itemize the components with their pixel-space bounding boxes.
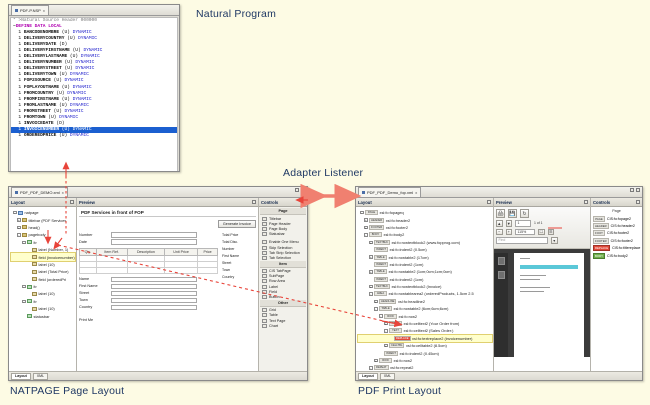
tree-node-label: itr: [34, 240, 37, 245]
palette-item-icon: [262, 285, 267, 289]
form-bottom-fields[interactable]: NameFirst NameStreetTownCountry: [79, 277, 218, 311]
tree-node[interactable]: label (Total Price): [11, 268, 75, 275]
maximize-icon[interactable]: [301, 188, 305, 192]
control-label: CIS:fo:footer2: [611, 239, 633, 243]
box-icon: [27, 240, 32, 244]
node-type-tag: TEXT: [389, 328, 402, 333]
expander-icon[interactable]: -: [379, 314, 383, 318]
thumbnails-icon[interactable]: [498, 257, 505, 265]
tree-node[interactable]: +CELLTBLxsl:fo:celltable2 (8.5cm): [358, 342, 492, 349]
palette-item-label: Tab Strip Selection: [269, 251, 300, 255]
node-type-tag: TEXTBLK: [374, 240, 390, 245]
tree-node-label: label (Total Price): [39, 269, 69, 274]
maximize-icon[interactable]: [636, 188, 640, 192]
fld-icon: [32, 270, 37, 274]
box-icon: [27, 285, 32, 289]
box-icon: [27, 314, 32, 318]
fit-page-icon[interactable]: ☐: [538, 229, 545, 236]
control-label: CIS:fo:body2: [607, 254, 628, 258]
save-icon[interactable]: 💾: [508, 209, 517, 218]
tree-node[interactable]: +FOOTERxsl:fo:footer2: [358, 224, 492, 231]
tree-node-label: titlebar (PDF Services: [29, 218, 67, 223]
palette-item-label: Text Page: [269, 319, 285, 323]
generate-invoice-button[interactable]: Generate Invoice: [218, 220, 256, 228]
tree-node-label: xsl:fo:indent2 (1cm): [390, 277, 424, 282]
control-item[interactable]: PAGECIS:fo:fopage2: [592, 215, 641, 222]
items-grid-header-row: Qty.Item Ref.DescriptionUnit PricePrice: [80, 248, 218, 255]
page-number-input[interactable]: 1: [515, 220, 531, 227]
tree-node[interactable]: -pagebody: [11, 231, 75, 238]
pdf-controls-list[interactable]: Page PAGECIS:fo:fopage2HEADERCIS:fo:head…: [591, 207, 642, 380]
node-type-tag: ROW: [379, 358, 392, 363]
tree-node[interactable]: -natpage: [11, 209, 75, 216]
fld-icon: [32, 248, 37, 252]
tree-node[interactable]: -itr: [11, 283, 75, 290]
pdf-layout-header: Layout: [356, 198, 493, 207]
tree-node-label: xsl:fo:indent2 (1cm): [390, 262, 424, 267]
field-input[interactable]: [111, 291, 197, 297]
tree-node-label: xsl:fo:rowtable2 (17cm): [389, 255, 429, 260]
expander-icon[interactable]: +: [17, 218, 21, 222]
tree-node[interactable]: field (orderedPri: [11, 276, 75, 283]
node-type-tag: INDENT: [374, 247, 388, 252]
tree-node-label: xsl:fo:textreplace2 (invoicenumber): [412, 336, 472, 341]
node-type-tag: TEXT: [389, 321, 402, 326]
expander-icon[interactable]: +: [364, 226, 368, 230]
controls-section-head: Page: [592, 208, 641, 215]
items-grid[interactable]: Qty.Item Ref.DescriptionUnit PricePrice: [79, 248, 218, 274]
zoom-in-icon[interactable]: +: [506, 229, 513, 236]
expander-icon[interactable]: +: [369, 255, 373, 259]
tree-node-label: statusbar: [34, 314, 50, 319]
field-label: Date: [79, 240, 111, 244]
palette-item-label: SubPage: [269, 274, 284, 278]
panel-menu-icon[interactable]: [584, 200, 588, 204]
label-natural-program: Natural Program: [196, 8, 276, 20]
pdf-controls-column: Controls Page PAGECIS:fo:fopage2HEADERCI…: [591, 198, 642, 380]
fld-icon: [32, 262, 37, 266]
tree-node[interactable]: +TEXTxsl:fo:celltext2 (Your Order from): [358, 320, 492, 327]
form-right-label: Country: [222, 274, 256, 281]
tree-node-label: label (10): [39, 291, 55, 296]
status-tab-xml[interactable]: XML: [380, 373, 395, 380]
expander-icon[interactable]: -: [364, 233, 368, 237]
control-item[interactable]: REPLACECIS:fo:titlereplace: [592, 245, 641, 252]
node-type-tag: TEXTBLK: [374, 284, 390, 289]
palette-item-label: Button: [269, 295, 280, 299]
control-label: CIS:fo:header2: [611, 224, 635, 228]
field-input[interactable]: [111, 298, 197, 304]
tree-node-label: xsl:fo:celltext2 (Your Order from): [404, 321, 460, 326]
palette-item-label: Table: [269, 313, 278, 317]
source-code-area[interactable]: * >Natural Source Header 000000 −DEFINE …: [10, 17, 178, 172]
field-label: Name: [79, 277, 111, 281]
tree-node[interactable]: label (Number, 1): [11, 246, 75, 253]
palette-item-label: Titlebar: [269, 217, 281, 221]
natpage-layout-tree[interactable]: -natpage+titlebar (PDF Services+head()-p…: [9, 207, 76, 380]
tree-node-label: xsl:fo:celltext2 (Sales Order:): [404, 328, 454, 333]
panel-menu-icon[interactable]: [487, 200, 491, 204]
control-label: CIS:fo:fopage2: [607, 217, 631, 221]
tree-node[interactable]: -AREAxsl:fo:rowtablearea2 (orderedProduc…: [358, 290, 492, 297]
tree-node[interactable]: field (invoicenumber): [11, 253, 75, 260]
grid-cell[interactable]: [198, 267, 218, 273]
tree-node[interactable]: label (10): [11, 305, 75, 312]
status-tab-layout[interactable]: Layout: [358, 373, 378, 380]
tree-node[interactable]: +TEXTBLKxsl:fo:rowtextblock2 (Invoice): [358, 283, 492, 290]
tree-node-label: natpage: [25, 210, 39, 215]
file-icon: [15, 9, 18, 12]
tree-node-label: xsl:fo:row2: [399, 314, 418, 319]
grid-column-header: Description: [127, 248, 164, 255]
form-row[interactable]: First Name: [79, 284, 218, 290]
tree-node[interactable]: label (10): [11, 261, 75, 268]
expander-icon[interactable]: -: [22, 285, 26, 289]
tree-node-label: xsl:fo:footer2: [386, 225, 408, 230]
palette-item-icon: [262, 246, 267, 250]
items-grid-body[interactable]: [80, 255, 218, 273]
panel-menu-icon[interactable]: [252, 200, 256, 204]
pdf-layout-column: Layout -PAGExsl:fo:fopageq+HEADERxsl:fo:…: [356, 198, 494, 380]
tree-node-label: field (invoicenumber): [39, 255, 75, 260]
panel-title: Preview: [496, 200, 512, 205]
control-type-tag: PAGE: [593, 216, 605, 222]
natpage-layout-header: Layout: [9, 198, 76, 207]
form-row[interactable]: Number: [79, 232, 218, 238]
tree-node-label: itr: [34, 284, 37, 289]
field-input[interactable]: [111, 305, 197, 311]
panel-menu-icon[interactable]: [301, 200, 305, 204]
tab-pdf-p-nsp[interactable]: PDF-P.NSP x: [11, 5, 49, 15]
tree-node-label: xsl:fo:fopageq: [380, 210, 404, 215]
fit-width-icon[interactable]: ☰: [548, 229, 555, 236]
form-right-label: First Name: [222, 253, 256, 260]
node-type-tag: FOOTER: [369, 225, 384, 230]
tree-node[interactable]: +head(): [11, 224, 75, 231]
refresh-icon[interactable]: ↻: [520, 209, 529, 218]
close-icon[interactable]: x: [43, 8, 45, 13]
status-tab-layout[interactable]: Layout: [11, 373, 31, 380]
code-field-list[interactable]: 1 BANCODENOMBRE (U) DYNAMIC 1 DELIVERYCO…: [11, 30, 177, 139]
control-label: CIS:fo:titlereplace: [612, 246, 640, 250]
palette-section-title: Item: [260, 261, 306, 268]
natpage-form-preview[interactable]: PDF Services in front of FOP Generate In…: [77, 207, 258, 380]
expander-icon[interactable]: -: [369, 292, 373, 296]
control-item[interactable]: FOOTERCIS:fo:footer2: [592, 237, 641, 244]
tree-node-label: xsl:fo:celltable2 (8.5cm): [406, 343, 447, 348]
node-type-tag: ROW: [384, 314, 397, 319]
label-adapter-listener: Adapter Listener: [283, 167, 363, 179]
page-icon: [18, 211, 23, 215]
minimize-icon[interactable]: [630, 188, 634, 192]
form-right-labels: Total PriceTotal Disc.NumberFirst NameSt…: [222, 232, 256, 322]
pdf-controls-header: Controls: [591, 198, 642, 207]
close-icon[interactable]: x: [62, 190, 64, 195]
control-type-tag: BODY: [593, 253, 605, 259]
natural-program-editor-window[interactable]: PDF-P.NSP x * >Natural Source Header 000…: [8, 4, 180, 172]
status-tab-xml[interactable]: XML: [33, 373, 48, 380]
tab-pdf-pdf-demo-fop-xml[interactable]: PDF_PDF_Demo_fop.xml x: [358, 187, 421, 197]
tree-node[interactable]: INDENTxsl:fo:indent2 (1cm): [358, 261, 492, 268]
expander-icon[interactable]: +: [369, 241, 373, 245]
form-row[interactable]: Street: [79, 291, 218, 297]
panel-title: Layout: [358, 200, 372, 205]
pdf-preview-header: Preview: [494, 198, 590, 207]
close-icon[interactable]: x: [415, 190, 417, 195]
tab-pdf-pdf-demo-xml[interactable]: PDF_PDF_DEMO.xml x: [11, 187, 68, 197]
expander-icon[interactable]: -: [22, 241, 26, 245]
grid-row[interactable]: [80, 267, 218, 273]
grid-cell[interactable]: [127, 267, 164, 273]
fld-icon: [32, 277, 37, 281]
tree-node[interactable]: -TABLExsl:fo:rowtable2 (6cm;6cm;6cm): [358, 305, 492, 312]
form-row[interactable]: Town: [79, 298, 218, 304]
node-type-tag: TABLE: [374, 269, 387, 274]
palette-item-icon: [262, 313, 267, 317]
tree-node[interactable]: +HEADLINExsl:fo:headline2: [358, 298, 492, 305]
form-row[interactable]: Date: [79, 239, 218, 245]
expander-icon[interactable]: +: [384, 322, 388, 326]
tree-node-label: xsl:fo:headline2: [398, 299, 425, 304]
panel-menu-icon[interactable]: [70, 200, 74, 204]
expander-icon[interactable]: -: [384, 329, 388, 333]
tree-node[interactable]: -TEXTxsl:fo:celltext2 (Sales Order:): [358, 327, 492, 334]
bookmarks-icon[interactable]: [498, 271, 505, 279]
tree-node-label: xsl:fo:rowtable2 (6cm;6cm;6cm): [394, 306, 449, 311]
pdf-page-sheet: [514, 253, 584, 357]
panel-title: Controls: [593, 200, 610, 205]
find-dropdown-icon[interactable]: ▾: [551, 237, 558, 244]
tree-node[interactable]: -ROWxsl:fo:row2: [358, 312, 492, 319]
natpage-tabbar: PDF_PDF_DEMO.xml x: [9, 187, 307, 198]
palette-item-icon: [262, 324, 267, 328]
expander-icon[interactable]: +: [17, 226, 21, 230]
tab-label: PDF-P.NSP: [20, 8, 41, 13]
palette-item-icon: [262, 290, 267, 294]
panel-title: Controls: [261, 200, 278, 205]
tree-node-label: xsl:fo:indent2 (0.45cm): [400, 351, 439, 356]
zoom-level-input[interactable]: 115%: [515, 229, 535, 236]
code-field-line[interactable]: 1 ORDEREDPRICE (U) DYNAMIC: [11, 133, 177, 139]
tree-node-label: xsl:fo:header2: [386, 218, 410, 223]
palette-item[interactable]: Tab Strip Selection: [260, 250, 306, 255]
tree-node[interactable]: -PAGExsl:fo:fopageq: [358, 209, 492, 216]
palette-item-icon: [262, 232, 267, 236]
label-pdf-print-layout: PDF Print Layout: [358, 385, 441, 397]
zoom-out-icon[interactable]: −: [496, 229, 503, 236]
printer-icon[interactable]: 🖨: [496, 209, 505, 218]
palette-item-icon: [262, 256, 267, 260]
panel-title: Layout: [11, 200, 25, 205]
tree-node[interactable]: INDENTxsl:fo:indent2 (0.5cm): [358, 246, 492, 253]
expander-icon[interactable]: +: [369, 285, 373, 289]
pdf-viewer-toolbar[interactable]: 🖨 💾 ↻ ▲ ▼ 1 1 of 1 − + 115% ☐: [494, 207, 590, 249]
pdf-print-layout-window[interactable]: PDF_PDF_Demo_fop.xml x Layout -PAGExsl:f…: [355, 186, 643, 381]
panel-title: Preview: [79, 200, 95, 205]
control-type-tag: REPLACE: [593, 245, 610, 251]
tree-node[interactable]: statusbar: [11, 312, 75, 319]
folder-icon: [22, 218, 27, 222]
grid-column-header: Unit Price: [165, 248, 198, 255]
form-row[interactable]: Name: [79, 277, 218, 283]
prev-page-icon[interactable]: ▲: [496, 220, 503, 227]
tree-node[interactable]: INDENTxsl:fo:indent2 (0.45cm): [358, 349, 492, 356]
tree-node[interactable]: +ROWxsl:fo:row2: [358, 357, 492, 364]
grid-cell[interactable]: [165, 267, 198, 273]
window-buttons[interactable]: [630, 188, 640, 192]
tree-node[interactable]: +titlebar (PDF Services: [11, 216, 75, 223]
palette-item-icon: [262, 295, 267, 299]
node-type-tag: TABLE: [374, 255, 387, 260]
fld-icon: [32, 292, 37, 296]
tree-node[interactable]: -itr: [11, 239, 75, 246]
window-buttons[interactable]: [295, 188, 305, 192]
palette-item-icon: [262, 222, 267, 226]
file-icon: [362, 191, 365, 194]
expander-icon[interactable]: -: [369, 366, 373, 370]
node-type-tag: HEADLINE: [379, 299, 396, 304]
expander-icon[interactable]: +: [369, 270, 373, 274]
palette-item-label: Chart: [269, 324, 278, 328]
expander-icon[interactable]: +: [374, 300, 378, 304]
expander-icon[interactable]: -: [17, 233, 21, 237]
form-top-fields[interactable]: NumberDate: [79, 232, 218, 245]
pdf-tabbar: PDF_PDF_Demo_fop.xml x: [356, 187, 642, 198]
node-type-tag: PAGE: [365, 210, 378, 215]
pdf-viewer[interactable]: 🖨 💾 ↻ ▲ ▼ 1 1 of 1 − + 115% ☐: [494, 207, 590, 380]
tree-node[interactable]: +TEXTBLKxsl:fo:rowtextblock2 (www.foppro…: [358, 239, 492, 246]
grid-cell[interactable]: [96, 267, 127, 273]
control-item[interactable]: BODYCIS:fo:body2: [592, 252, 641, 259]
palette-item-label: Row Area: [269, 279, 285, 283]
natpage-controls-header: Controls: [259, 198, 307, 207]
tree-node-label: label (Number, 1): [39, 247, 69, 252]
node-type-tag: INDENT: [374, 262, 388, 267]
field-label: Number: [79, 233, 111, 237]
expander-icon[interactable]: +: [364, 218, 368, 222]
palette-item-icon: [262, 240, 267, 244]
tree-node-label: xsl:fo:indent2 (0.5cm): [390, 247, 427, 252]
palette-item-label: Field: [269, 290, 277, 294]
palette-item-label: Grid: [269, 308, 276, 312]
tree-node-label: label (10): [39, 306, 55, 311]
control-item[interactable]: FOOTCIS:fo:footer2: [592, 230, 641, 237]
expander-icon[interactable]: -: [22, 300, 26, 304]
tree-node[interactable]: +TABLExsl:fo:rowtable2 (17cm): [358, 253, 492, 260]
natpage-controls-column: Controls PageTitlebarPage HeaderPage Bod…: [259, 198, 307, 380]
box-icon: [27, 299, 32, 303]
node-type-tag: REPLACE: [394, 336, 411, 341]
node-type-tag: REPEAT: [374, 365, 389, 370]
tree-node[interactable]: -itr: [11, 298, 75, 305]
palette-item-icon: [262, 227, 267, 231]
palette-item-label: Tab Selection: [269, 256, 291, 260]
tree-node[interactable]: label (10): [11, 290, 75, 297]
pdf-layout-tree[interactable]: -PAGExsl:fo:fopageq+HEADERxsl:fo:header2…: [356, 207, 493, 380]
tree-node[interactable]: +HEADERxsl:fo:header2: [358, 216, 492, 223]
palette-item-label: Page Header: [269, 222, 291, 226]
file-icon: [15, 191, 18, 194]
palette-item-label: CIS TabPage: [269, 269, 291, 273]
tree-node-label: label (10): [39, 262, 55, 267]
natpage-statusbar[interactable]: Layout XML: [9, 371, 307, 380]
tree-node-label: xsl:fo:rowtextblock2 (www.fopprog.com): [391, 240, 460, 245]
node-type-tag: INDENT: [384, 351, 398, 356]
palette-item-icon: [262, 319, 267, 323]
tree-node[interactable]: -BODYxsl:fo:body2: [358, 231, 492, 238]
tab-label: PDF_PDF_Demo_fop.xml: [367, 190, 413, 195]
fld-icon: [32, 255, 37, 259]
grid-column-header: Item Ref.: [96, 248, 127, 255]
panel-menu-icon[interactable]: [636, 200, 640, 204]
expander-icon[interactable]: -: [374, 307, 378, 311]
tree-node-label: xsl:fo:rowtextblock2 (Invoice): [391, 284, 441, 289]
natpage-preview-header: Preview: [77, 198, 258, 207]
control-type-tag: FOOT: [593, 230, 605, 236]
pdf-preview-column: Preview 🖨 💾 ↻ ▲ ▼ 1 1 of 1: [494, 198, 591, 380]
node-type-tag: BODY: [369, 232, 382, 237]
grid-cell[interactable]: [80, 267, 97, 273]
fld-icon: [32, 307, 37, 311]
form-row[interactable]: Country: [79, 305, 218, 311]
node-type-tag: HEADER: [369, 218, 384, 223]
find-input[interactable]: Find: [496, 237, 548, 244]
field-label: Street: [79, 291, 111, 295]
node-type-tag: TABLE: [379, 306, 392, 311]
tab-label: PDF_PDF_DEMO.xml: [20, 190, 60, 195]
palette-item-label: Label: [269, 285, 278, 289]
expander-icon[interactable]: +: [384, 344, 388, 348]
palette-item-icon: [262, 279, 267, 283]
folder-icon: [22, 225, 27, 229]
field-label: First Name: [79, 284, 111, 288]
field-input[interactable]: [111, 284, 197, 290]
palette-item-icon: [262, 217, 267, 221]
form-right-label: Total Disc.: [222, 239, 256, 246]
expander-icon[interactable]: -: [13, 211, 17, 215]
field-input[interactable]: [111, 277, 197, 283]
field-input[interactable]: [111, 232, 197, 238]
pdf-statusbar[interactable]: Layout XML: [356, 371, 642, 380]
natpage-controls-palette[interactable]: PageTitlebarPage HeaderPage BodyStatusba…: [259, 207, 307, 380]
grid-column-header: Price: [198, 248, 218, 255]
field-input[interactable]: [111, 239, 197, 245]
palette-item-icon: [262, 251, 267, 255]
minimize-icon[interactable]: [295, 188, 299, 192]
form-right-label: Number: [222, 246, 256, 253]
palette-item[interactable]: Chart: [260, 323, 306, 328]
pdf-control-items[interactable]: PAGECIS:fo:fopage2HEADERCIS:fo:header2FO…: [592, 215, 641, 259]
tree-node-label: field (orderedPri: [39, 277, 67, 282]
control-item[interactable]: HEADERCIS:fo:header2: [592, 222, 641, 229]
tree-node[interactable]: REPLACExsl:fo:textreplace2 (invoicenumbe…: [358, 335, 492, 342]
grid-column-header: Qty.: [80, 248, 97, 255]
tree-node[interactable]: INDENTxsl:fo:indent2 (1cm): [358, 276, 492, 283]
pdf-page-area[interactable]: [494, 249, 590, 357]
expander-icon[interactable]: -: [360, 211, 364, 215]
pdf-viewer-sidebar[interactable]: [494, 253, 508, 357]
next-page-icon[interactable]: ▼: [506, 220, 513, 227]
editor-tabbar: PDF-P.NSP x: [9, 5, 179, 16]
palette-item-label: Enable One Menu: [269, 240, 299, 244]
natpage-layout-window[interactable]: PDF_PDF_DEMO.xml x Layout -natpage+title…: [8, 186, 308, 381]
tree-node-label: xsl:fo:repeat2: [390, 365, 413, 370]
tree-node-label: xsl:fo:rowtablearea2 (orderedProducts, 1…: [389, 291, 474, 296]
print-label: Print Me: [79, 318, 218, 322]
tree-node[interactable]: +TABLExsl:fo:rowtable2 (1cm;0cm;1cm;0cm): [358, 268, 492, 275]
control-label: CIS:fo:footer2: [607, 231, 629, 235]
expander-icon[interactable]: +: [374, 359, 378, 363]
